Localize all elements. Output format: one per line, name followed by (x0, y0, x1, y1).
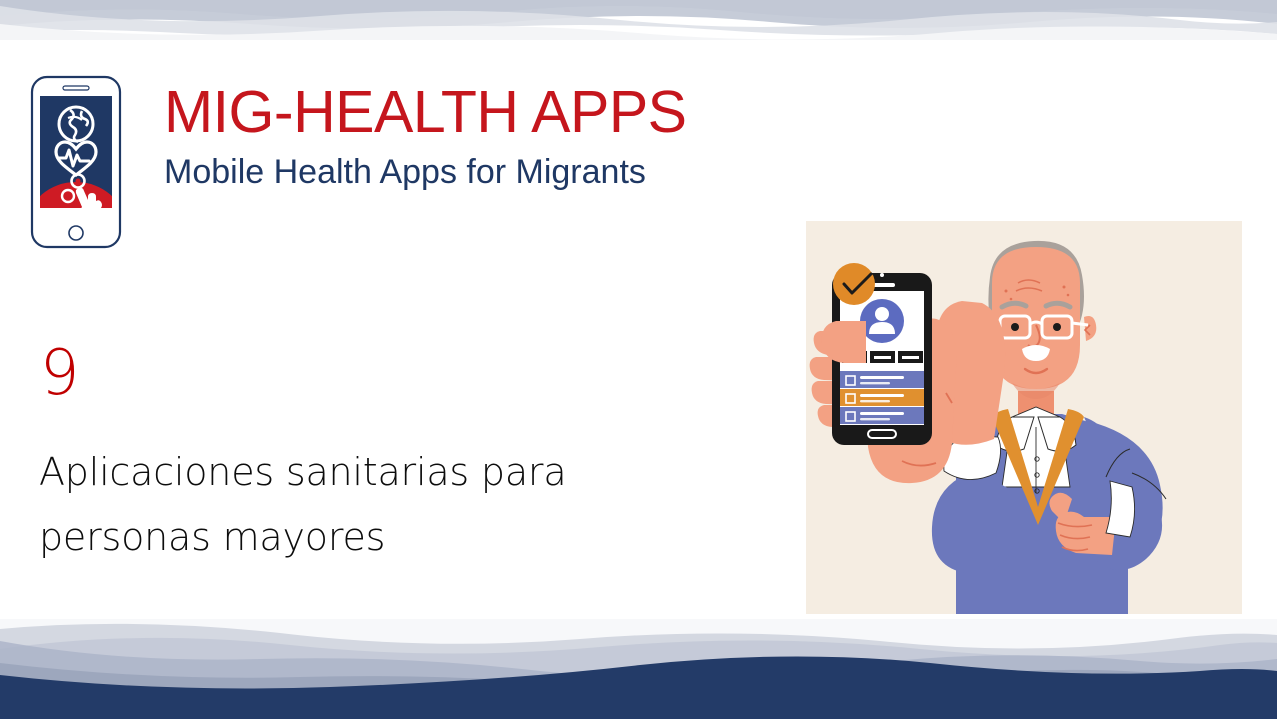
mobile-phone-globe-heart-touch-logo (26, 74, 126, 250)
bottom-wave-4 (0, 663, 1277, 719)
elderly-man-holding-smartphone-illustration (806, 221, 1242, 614)
slide-canvas: MIG-HEALTH APPS Mobile Health Apps for M… (0, 0, 1277, 719)
top-wave-dark (0, 0, 1277, 19)
bottom-wave-layers (0, 619, 1277, 719)
bottom-wave-band (0, 619, 1277, 719)
bottom-wave-2 (0, 638, 1277, 719)
bottom-wave-3 (0, 641, 1277, 719)
top-wave-light (0, 6, 1277, 36)
brand-logo-block: MIG-HEALTH APPS Mobile Health Apps for M… (26, 74, 687, 250)
bottom-wave-pale (0, 619, 1277, 719)
top-wave-band (0, 0, 1277, 40)
top-wave-mid (0, 0, 1277, 29)
bottom-wave-1 (0, 624, 1277, 719)
check-circle-icon (833, 263, 875, 305)
section-number: 9 (40, 342, 79, 404)
page-title: Aplicaciones sanitarias para personas ma… (39, 440, 679, 570)
top-wave-pale (0, 24, 1277, 40)
top-wave-layers (0, 0, 1277, 40)
brand-subtitle: Mobile Health Apps for Migrants (164, 150, 687, 194)
bottom-wave-navy (0, 656, 1277, 719)
brand-title: MIG-HEALTH APPS (164, 80, 687, 144)
brand-text: MIG-HEALTH APPS Mobile Health Apps for M… (164, 74, 687, 194)
